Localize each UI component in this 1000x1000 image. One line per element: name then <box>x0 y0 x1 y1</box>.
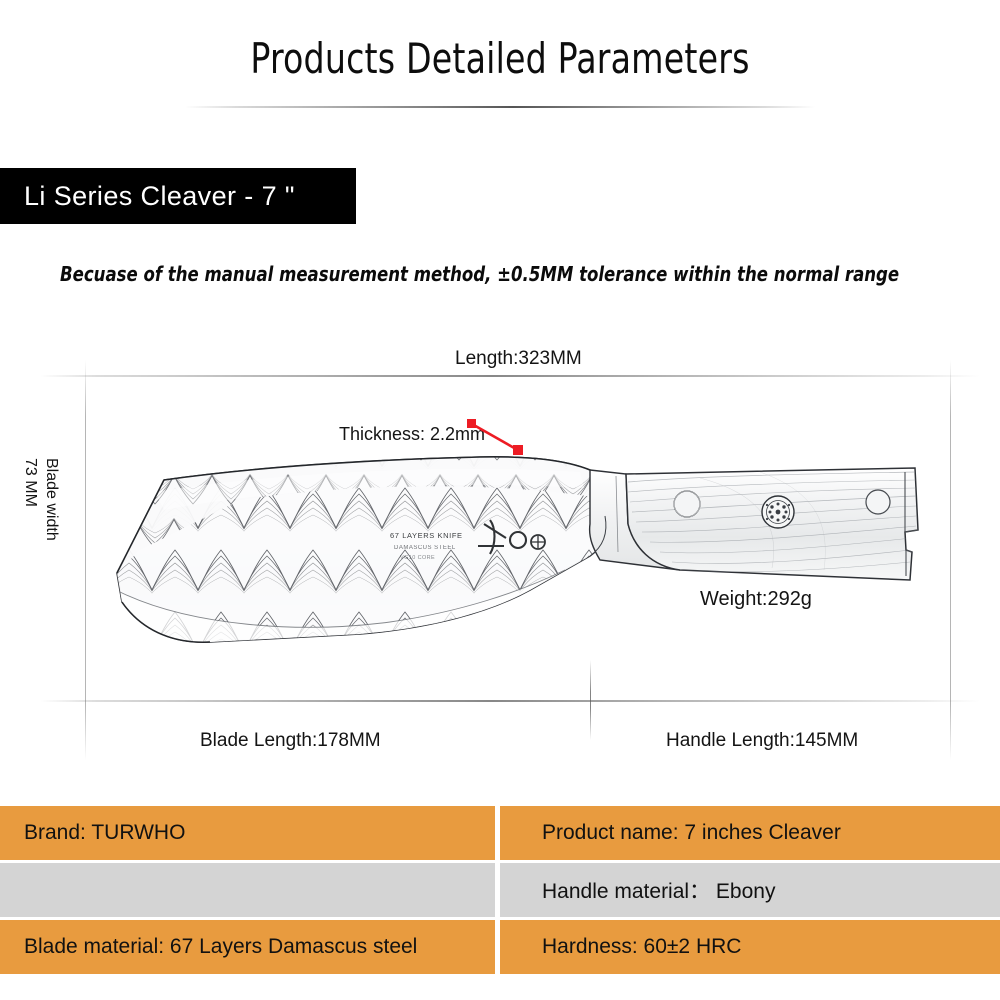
page-title: Products Detailed Parameters <box>60 34 940 83</box>
spec-cell-empty <box>0 863 495 917</box>
thickness-pointer-arrow <box>466 418 526 456</box>
label-handle-length: Handle Length:145MM <box>666 730 858 752</box>
cleaver-knife-illustration: 67 LAYERS KNIFE DAMASCUS STEEL VG10 CORE <box>60 420 960 680</box>
tolerance-note: Becuase of the manual measurement method… <box>60 262 888 286</box>
guide-line-bottom <box>40 700 980 702</box>
svg-text:DAMASCUS STEEL: DAMASCUS STEEL <box>394 545 456 551</box>
spec-cell-hardness: Hardness: 60±2 HRC <box>500 920 1000 974</box>
table-row: Brand: TURWHO Product name: 7 inches Cle… <box>0 806 1000 860</box>
spec-cell-brand-text: Brand: TURWHO <box>24 821 185 845</box>
series-banner-label: Li Series Cleaver - 7 " <box>0 181 295 212</box>
specification-table: Brand: TURWHO Product name: 7 inches Cle… <box>0 806 1000 1000</box>
spec-cell-handle-material-text: Handle material： Ebony <box>542 875 775 905</box>
label-weight: Weight:292g <box>700 588 812 611</box>
label-overall-length: Length:323MM <box>455 348 582 370</box>
label-blade-width-line1: Blade width <box>41 458 62 638</box>
knife-dimension-diagram: 67 LAYERS KNIFE DAMASCUS STEEL VG10 CORE <box>0 330 1000 790</box>
spec-cell-brand: Brand: TURWHO <box>0 806 495 860</box>
spec-cell-blade-material: Blade material: 67 Layers Damascus steel <box>0 920 495 974</box>
spec-cell-product-name: Product name: 7 inches Cleaver <box>500 806 1000 860</box>
spec-cell-product-name-text: Product name: 7 inches Cleaver <box>542 821 841 845</box>
label-blade-width-line2: 73 MM <box>20 458 41 638</box>
table-row: Handle material： Ebony <box>0 863 1000 917</box>
handle-group <box>626 468 918 580</box>
label-blade-width: Blade width 73 MM <box>28 458 72 638</box>
title-divider <box>185 106 815 108</box>
svg-text:67 LAYERS KNIFE: 67 LAYERS KNIFE <box>390 531 463 540</box>
svg-text:VG10 CORE: VG10 CORE <box>400 555 435 561</box>
spec-cell-hardness-text: Hardness: 60±2 HRC <box>542 935 741 959</box>
spec-cell-blade-material-text: Blade material: 67 Layers Damascus steel <box>24 935 417 959</box>
label-blade-length: Blade Length:178MM <box>200 730 381 752</box>
spec-cell-handle-material: Handle material： Ebony <box>500 863 1000 917</box>
blade-group <box>110 450 630 650</box>
guide-line-top <box>40 375 980 377</box>
mosaic-pin <box>762 496 794 528</box>
label-thickness: Thickness: 2.2mm <box>339 424 485 445</box>
table-row: Blade material: 67 Layers Damascus steel… <box>0 920 1000 974</box>
series-banner: Li Series Cleaver - 7 " <box>0 168 356 224</box>
